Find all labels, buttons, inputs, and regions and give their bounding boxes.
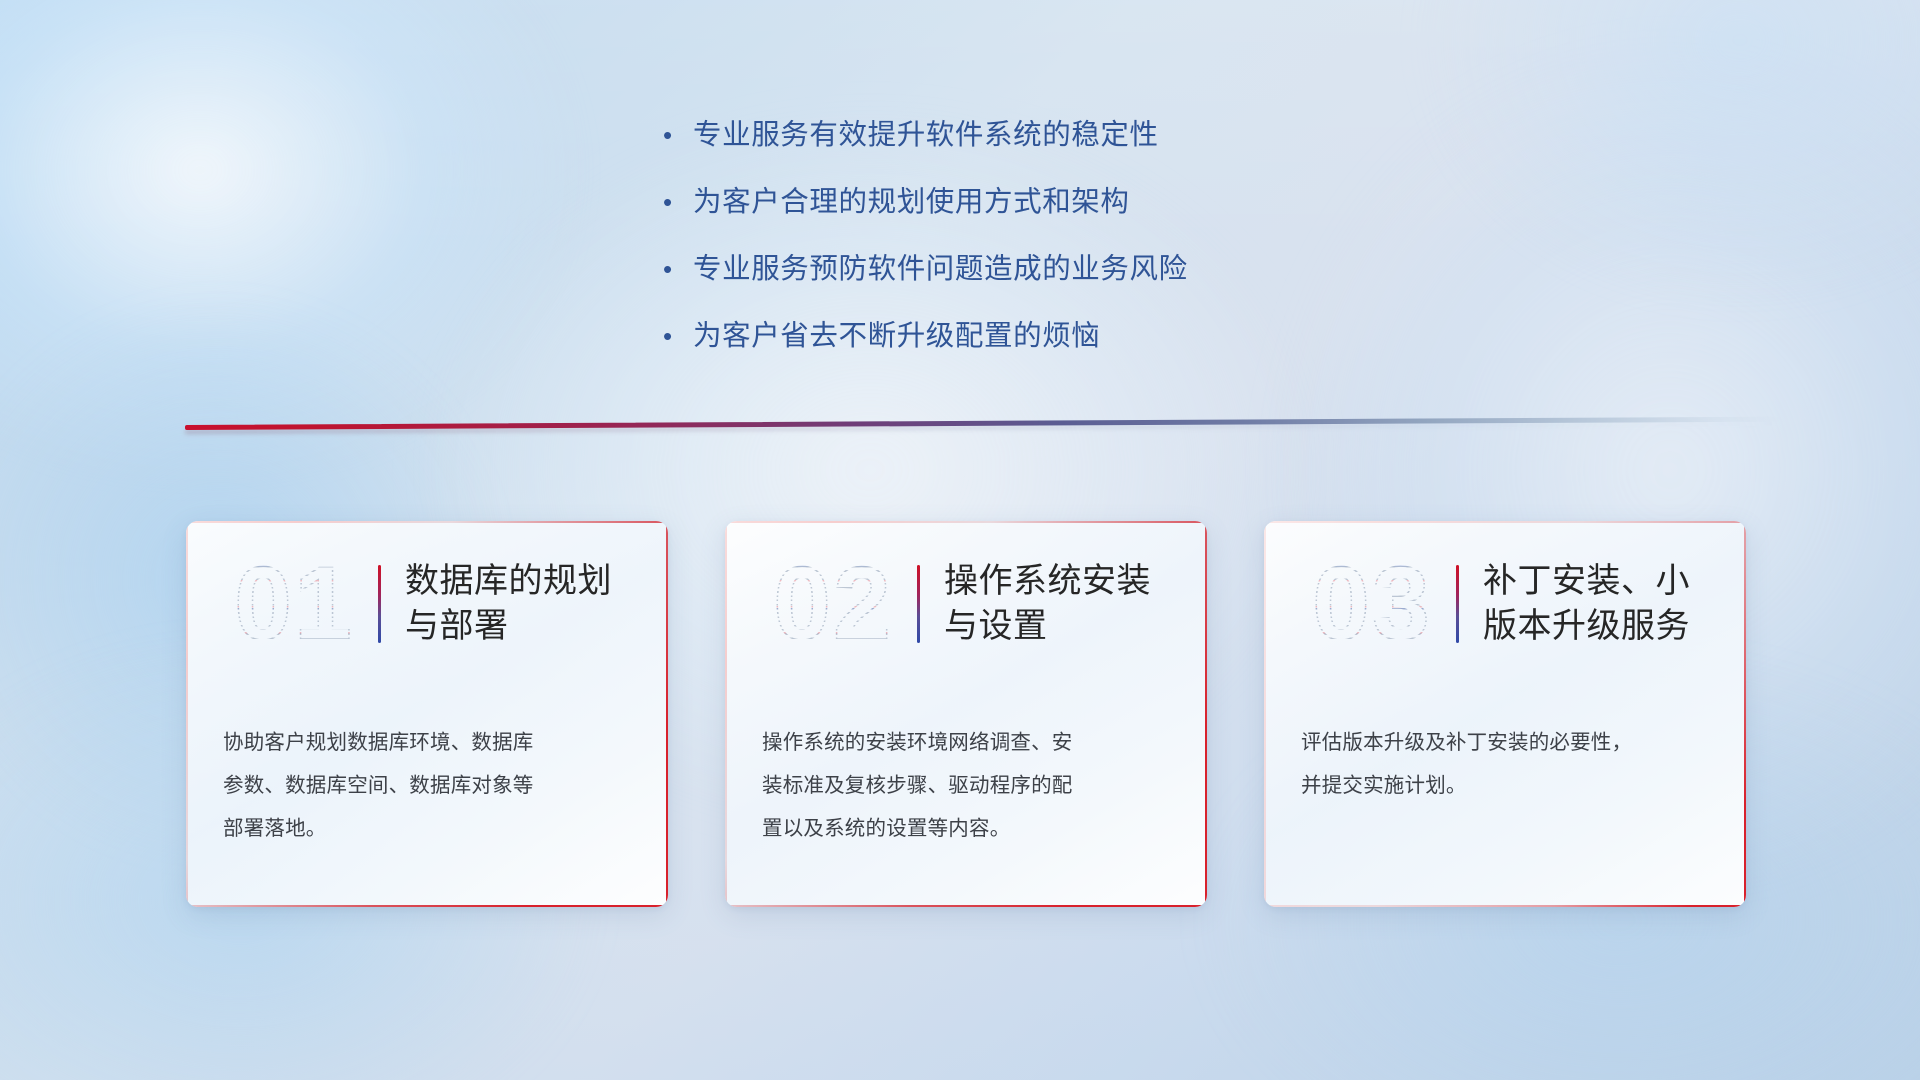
bullet-item-1: • 专业服务有效提升软件系统的稳定性 xyxy=(663,118,1423,152)
bullet-dot-icon: • xyxy=(663,252,693,286)
benefits-bullet-list: • 专业服务有效提升软件系统的稳定性 • 为客户合理的规划使用方式和架构 • 专… xyxy=(663,118,1423,386)
bullet-text-1: 专业服务有效提升软件系统的稳定性 xyxy=(693,118,1159,152)
bullet-dot-icon: • xyxy=(663,319,693,353)
card-number-01: 01 xyxy=(210,545,378,663)
card-accent-bar xyxy=(1456,565,1459,643)
card-number-02: 02 xyxy=(749,545,917,663)
card-body-02: 操作系统的安装环境网络调查、安 装标准及复核步骤、驱动程序的配 置以及系统的设置… xyxy=(762,721,1173,850)
bullet-item-4: • 为客户省去不断升级配置的烦恼 xyxy=(663,319,1423,353)
card-header: 01 01 01 数据库的规划 与部署 xyxy=(186,521,668,687)
card-header: 03 03 03 补丁安装、小 版本升级服务 xyxy=(1264,521,1746,687)
bullet-text-4: 为客户省去不断升级配置的烦恼 xyxy=(693,319,1100,353)
bullet-dot-icon: • xyxy=(663,118,693,152)
card-number-03: 03 xyxy=(1288,545,1456,663)
card-accent-bar xyxy=(917,565,920,643)
card-title-03: 补丁安装、小 版本升级服务 xyxy=(1483,559,1746,649)
service-card-02[interactable]: 02 02 02 操作系统安装 与设置 操作系统的安装环境网络调查、安 装标准及… xyxy=(725,521,1207,907)
bullet-dot-icon: • xyxy=(663,185,693,219)
card-header: 02 02 02 操作系统安装 与设置 xyxy=(725,521,1207,687)
card-accent-bar xyxy=(378,565,381,643)
bullet-text-2: 为客户合理的规划使用方式和架构 xyxy=(693,185,1130,219)
bullet-text-3: 专业服务预防软件问题造成的业务风险 xyxy=(693,252,1188,286)
bullet-item-3: • 专业服务预防软件问题造成的业务风险 xyxy=(663,252,1423,286)
section-divider xyxy=(185,425,1780,434)
card-body-01: 协助客户规划数据库环境、数据库 参数、数据库空间、数据库对象等 部署落地。 xyxy=(223,721,634,850)
service-card-01[interactable]: 01 01 01 数据库的规划 与部署 协助客户规划数据库环境、数据库 参数、数… xyxy=(186,521,668,907)
service-card-03[interactable]: 03 03 03 补丁安装、小 版本升级服务 评估版本升级及补丁安装的必要性， … xyxy=(1264,521,1746,907)
service-card-list: 01 01 01 数据库的规划 与部署 协助客户规划数据库环境、数据库 参数、数… xyxy=(186,521,1746,907)
bullet-item-2: • 为客户合理的规划使用方式和架构 xyxy=(663,185,1423,219)
card-title-02: 操作系统安装 与设置 xyxy=(944,559,1207,649)
card-title-01: 数据库的规划 与部署 xyxy=(405,559,668,649)
card-body-03: 评估版本升级及补丁安装的必要性， 并提交实施计划。 xyxy=(1301,721,1712,807)
